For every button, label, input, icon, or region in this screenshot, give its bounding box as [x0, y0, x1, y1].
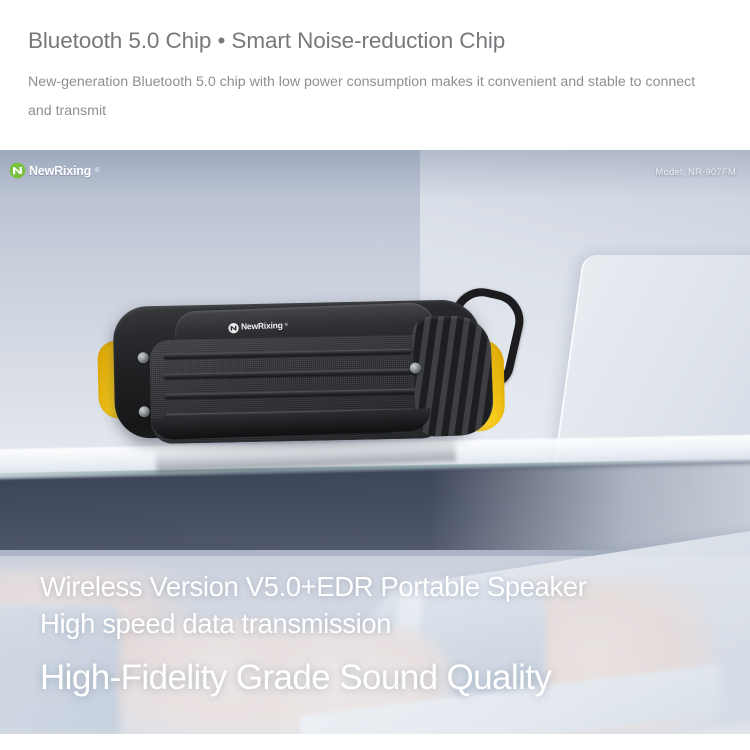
bottom-headline-block: Wireless Version V5.0+EDR Portable Speak…	[40, 568, 740, 700]
screw-bottom-left	[139, 406, 150, 417]
speaker-brand-name: NewRixing	[241, 320, 283, 331]
overlay-line-1: Wireless Version V5.0+EDR Portable Speak…	[40, 568, 740, 605]
footer-strip	[0, 734, 750, 750]
speaker-product: NewRixing ®	[94, 281, 508, 465]
screw-top-left	[138, 352, 149, 363]
overlay-line-3: High-Fidelity Grade Sound Quality	[40, 656, 740, 700]
header-section: Bluetooth 5.0 Chip • Smart Noise-reducti…	[0, 0, 750, 150]
overlay-line-2: High speed data transmission	[40, 605, 740, 642]
brand-registered-mark: ®	[95, 168, 99, 174]
page-title: Bluetooth 5.0 Chip • Smart Noise-reducti…	[28, 26, 722, 56]
brand-logo: NewRixing ®	[9, 162, 100, 179]
photo-top-band	[0, 150, 750, 198]
product-marketing-page: Bluetooth 5.0 Chip • Smart Noise-reducti…	[0, 0, 750, 750]
header-subtitle: New-generation Bluetooth 5.0 chip with l…	[28, 68, 718, 126]
model-number-label: Model: NR-907FM	[655, 167, 736, 178]
brand-name: NewRixing	[29, 164, 91, 178]
speaker-brand-registered-mark: ®	[285, 322, 288, 327]
speaker-leaf-n-logo-icon	[228, 320, 239, 331]
product-photo: NewRixing ® Model: NR-907FM	[0, 150, 750, 734]
speaker-brand-logo: NewRixing ®	[228, 319, 288, 332]
leaf-n-logo-icon	[9, 162, 26, 179]
